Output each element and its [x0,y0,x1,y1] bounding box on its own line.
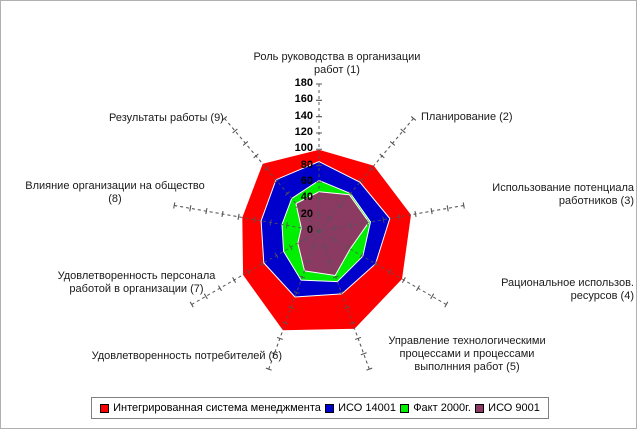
radar-grid-tick-overlay [431,294,434,299]
radial-tick-label: 80 [283,159,313,171]
axis-label-1: Роль руководства в организации работ (1) [237,51,437,77]
radial-tick-label: 40 [283,191,313,203]
radar-grid-tick-overlay [463,203,464,209]
radar-grid-tick-overlay [431,208,432,214]
radar-grid-tick-overlay [447,205,448,211]
axis-label-5: Управление технологическими процессами и… [378,335,556,374]
axis-label-3: Использование потенциала работников (3) [469,182,634,208]
radar-grid-tick-overlay [417,286,420,291]
legend-item-label: Интегрированная система менеджмента [113,402,321,414]
radial-tick-label: 180 [283,77,313,89]
legend-swatch-icon [475,404,484,413]
legend-swatch-icon [400,404,409,413]
radial-tick-label: 0 [283,224,313,236]
radar-grid-tick-overlay [380,154,385,158]
legend-swatch-icon [325,404,334,413]
radar-grid-tick-overlay [190,302,193,307]
radar-grid-tick-overlay [445,302,448,307]
legend-item[interactable]: ИСО 14001 [325,402,396,414]
axis-label-8: Влияние организации на общество (8) [9,180,221,206]
legend-item[interactable]: Интегрированная система менеджмента [100,402,321,414]
axis-label-4: Рациональное использов. ресурсов (4) [451,277,634,303]
axis-label-2: Планирование (2) [421,111,571,124]
legend-swatch-icon [100,404,109,413]
chart-figure: 180160140120100806040200 Роль руководств… [0,0,637,429]
radar-grid-tick-overlay [415,211,416,217]
radial-tick-label: 60 [283,175,313,187]
legend-item[interactable]: Факт 2000г. [400,402,471,414]
radar-grid-tick-overlay [206,208,207,214]
radar-grid-tick-overlay [190,205,191,211]
radar-grid-tick-overlay [238,214,239,220]
radial-tick-label: 20 [283,208,313,220]
legend-item[interactable]: ИСО 9001 [475,402,540,414]
legend-item-label: Факт 2000г. [413,402,471,414]
radar-grid-tick-overlay [222,211,223,217]
radial-tick-label: 160 [283,93,313,105]
radial-tick-label: 120 [283,126,313,138]
axis-label-6: Удовлетворенность потребителей (6) [67,350,282,363]
radial-tick-label: 100 [283,142,313,154]
radar-series-layer [174,84,465,370]
radial-tick-label: 140 [283,110,313,122]
chart-legend: Интегрированная система менеджментаИСО 1… [91,397,549,419]
axis-label-7: Удовлетворенность персонала работой в ор… [34,270,239,296]
legend-item-label: ИСО 14001 [338,402,396,414]
radar-grid-tick-overlay [361,353,367,355]
axis-label-9: Результаты работы (9) [109,112,259,125]
radar-grid-tick-overlay [254,154,259,158]
legend-item-label: ИСО 9001 [488,402,540,414]
